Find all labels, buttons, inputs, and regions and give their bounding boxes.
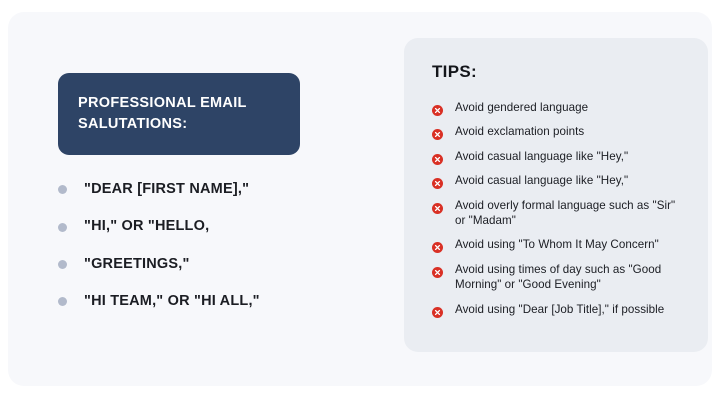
salutations-section: PROFESSIONAL EMAIL SALUTATIONS: "DEAR [F…	[58, 73, 388, 311]
list-item: "GREETINGS,"	[58, 256, 388, 273]
list-item: Avoid casual language like "Hey,"	[432, 173, 686, 188]
x-circle-icon	[432, 103, 443, 114]
salutation-label: "HI TEAM," OR "HI ALL,"	[84, 293, 260, 310]
list-item: Avoid exclamation points	[432, 124, 686, 139]
dot-bullet-icon	[58, 185, 67, 194]
list-item: Avoid using "To Whom It May Concern"	[432, 237, 686, 252]
tip-label: Avoid casual language like "Hey,"	[455, 149, 628, 164]
slide-card: PROFESSIONAL EMAIL SALUTATIONS: "DEAR [F…	[8, 12, 712, 386]
tip-label: Avoid overly formal language such as "Si…	[455, 198, 686, 229]
page-title: PROFESSIONAL EMAIL SALUTATIONS:	[78, 93, 280, 135]
list-item: Avoid gendered language	[432, 100, 686, 115]
tip-label: Avoid gendered language	[455, 100, 588, 115]
x-circle-icon	[432, 305, 443, 316]
section-title-box: PROFESSIONAL EMAIL SALUTATIONS:	[58, 73, 300, 155]
salutation-label: "HI," OR "HELLO,	[84, 218, 209, 235]
salutation-label: "DEAR [FIRST NAME],"	[84, 181, 249, 198]
tip-label: Avoid casual language like "Hey,"	[455, 173, 628, 188]
x-circle-icon	[432, 127, 443, 138]
x-circle-icon	[432, 265, 443, 276]
list-item: "DEAR [FIRST NAME],"	[58, 181, 388, 198]
list-item: "HI TEAM," OR "HI ALL,"	[58, 293, 388, 310]
tips-list: Avoid gendered language Avoid exclamatio…	[432, 100, 686, 317]
x-circle-icon	[432, 176, 443, 187]
x-circle-icon	[432, 240, 443, 251]
tips-panel: TIPS: Avoid gendered language	[404, 38, 708, 352]
dot-bullet-icon	[58, 297, 67, 306]
list-item: Avoid using times of day such as "Good M…	[432, 262, 686, 293]
dot-bullet-icon	[58, 260, 67, 269]
tip-label: Avoid using "To Whom It May Concern"	[455, 237, 659, 252]
dot-bullet-icon	[58, 223, 67, 232]
tip-label: Avoid using "Dear [Job Title]," if possi…	[455, 302, 664, 317]
x-circle-icon	[432, 152, 443, 163]
tips-heading: TIPS:	[432, 62, 686, 82]
tip-label: Avoid exclamation points	[455, 124, 584, 139]
list-item: "HI," OR "HELLO,	[58, 218, 388, 235]
tip-label: Avoid using times of day such as "Good M…	[455, 262, 686, 293]
x-circle-icon	[432, 201, 443, 212]
salutation-label: "GREETINGS,"	[84, 256, 190, 273]
list-item: Avoid using "Dear [Job Title]," if possi…	[432, 302, 686, 317]
list-item: Avoid casual language like "Hey,"	[432, 149, 686, 164]
salutation-list: "DEAR [FIRST NAME]," "HI," OR "HELLO, "G…	[58, 181, 388, 311]
list-item: Avoid overly formal language such as "Si…	[432, 198, 686, 229]
